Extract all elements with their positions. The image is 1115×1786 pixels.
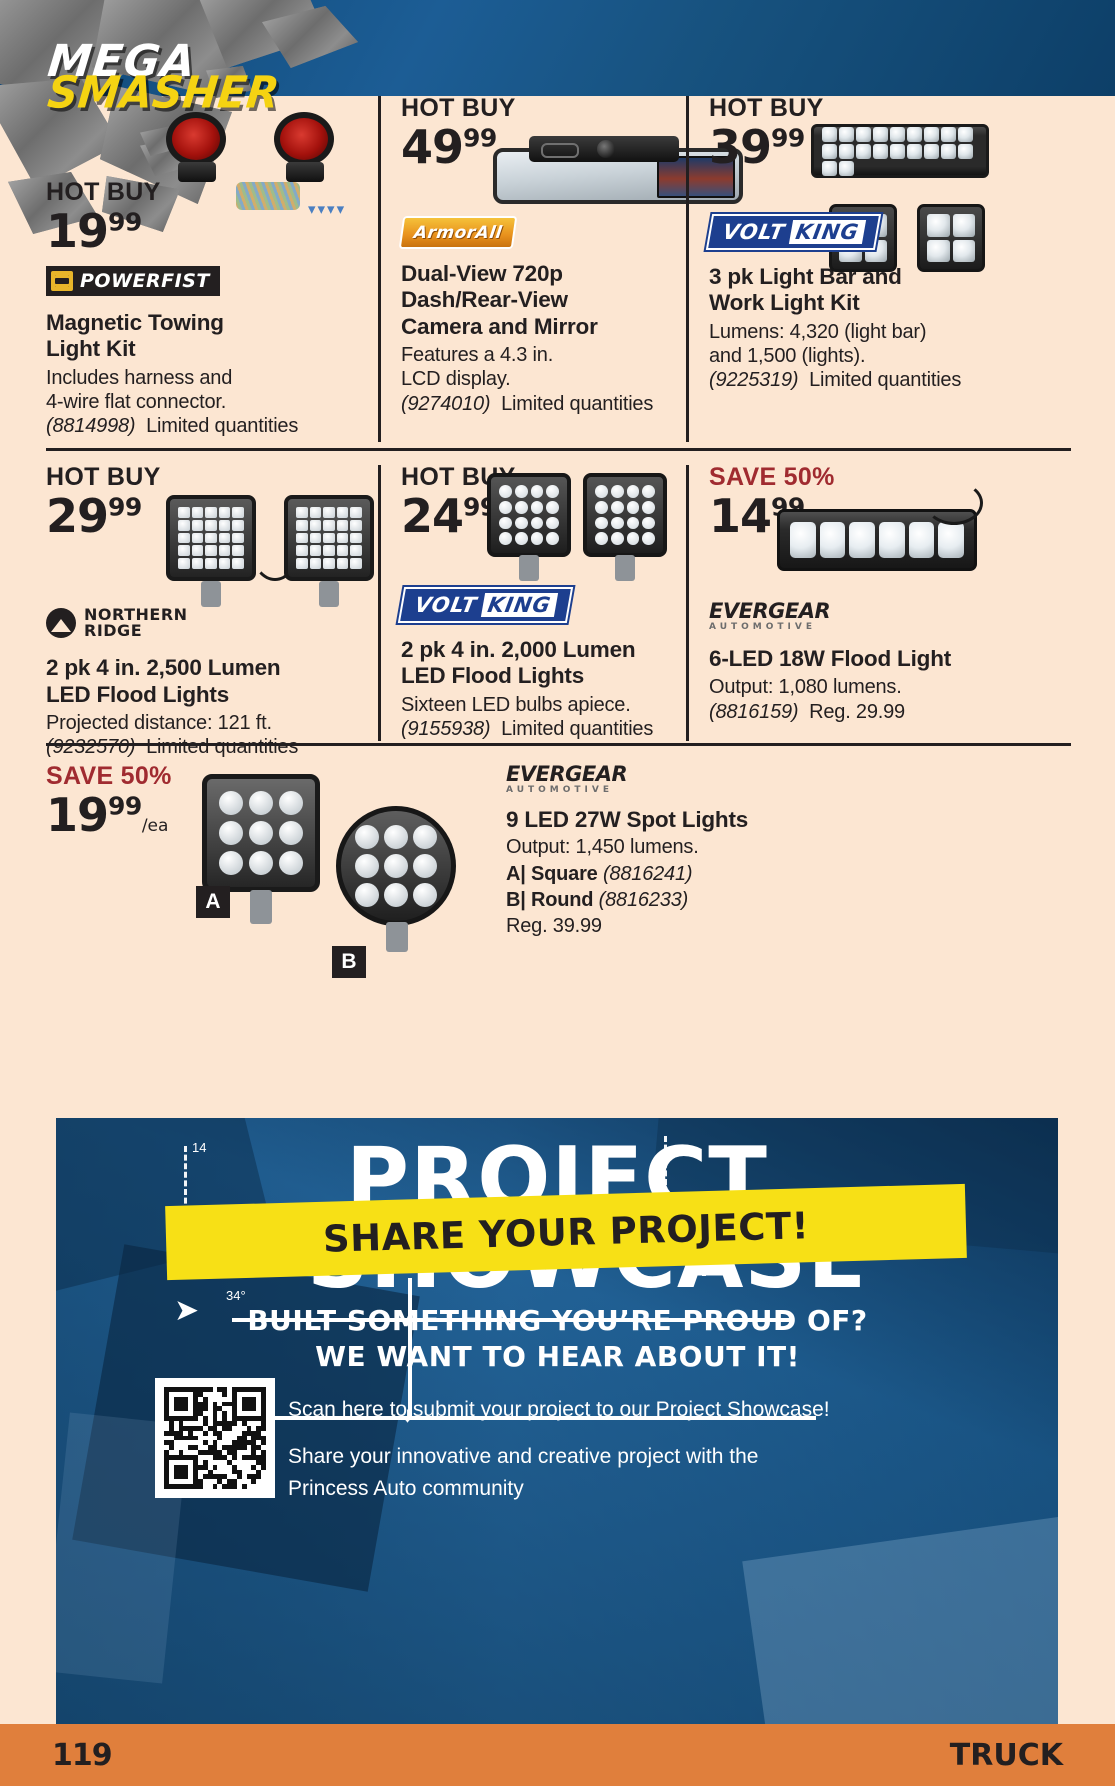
- mounting-bracket: [925, 481, 983, 525]
- variant-badge-b: B: [332, 946, 366, 978]
- brand-logo-voltking: VOLTKING: [706, 214, 881, 250]
- catalog-page: MEGA SMASHER ▾▾▾▾ HOT BUY 1999: [0, 0, 1115, 1786]
- product-availability: Limited quantities: [501, 718, 653, 740]
- brand-subtitle: AUTOMOTIVE: [709, 623, 830, 632]
- product-availability: Limited quantities: [809, 369, 961, 391]
- product-sku: (8814998): [46, 415, 135, 437]
- connector-clips-image: ▾▾▾▾: [308, 200, 360, 214]
- deal-flag: SAVE 50%: [46, 764, 172, 789]
- product-sku: (9155938): [401, 718, 490, 740]
- showcase-subhead-line1: BUILT SOMETHING YOU’RE PROUD OF?: [0, 1303, 1115, 1339]
- product-row-1: ▾▾▾▾ HOT BUY 1999 POWERFIST Magnetic Tow…: [46, 96, 1071, 442]
- brand-logo-evergear: EVERGEAR AUTOMOTIVE: [709, 601, 830, 632]
- showcase-scan-line1: Scan here to submit your project to our …: [288, 1394, 928, 1427]
- product-sku: (8816159): [709, 701, 798, 723]
- product-desc-line2: 4-wire flat connector.: [46, 390, 362, 414]
- product-card-6-led-18w-flood-light[interactable]: SAVE 50% 1499 EVERGEAR AUTOMOTIVE 6-LED …: [686, 465, 1026, 741]
- brand-subtitle: AUTOMOTIVE: [506, 786, 627, 795]
- product-title-line2: LED Flood Lights: [46, 682, 362, 708]
- price: 1999/ea: [46, 792, 168, 838]
- qr-code[interactable]: [155, 1378, 275, 1498]
- flood-light-mount-1: [201, 581, 221, 607]
- product-title-line2: Dash/Rear-View: [401, 287, 670, 313]
- price: 3999: [709, 124, 805, 170]
- brand-name-king: KING: [481, 593, 558, 617]
- spot-light-square-image: [202, 774, 320, 892]
- flood-light-mount-2: [615, 555, 635, 581]
- brand-name-king: KING: [789, 220, 866, 244]
- product-desc: Output: 1,450 lumens.: [506, 835, 1006, 859]
- product-desc-line1: Includes harness and: [46, 366, 362, 390]
- product-desc-line2: and 1,500 (lights).: [709, 344, 1010, 368]
- price-unit: /ea: [142, 816, 169, 836]
- product-desc-line1: Projected distance: 121 ft.: [46, 711, 362, 735]
- price-dollars: 24: [401, 489, 463, 543]
- deal-flag: HOT BUY: [401, 96, 670, 121]
- brand-name: EVERGEAR: [506, 762, 627, 786]
- price: 2999: [46, 493, 142, 539]
- brand-logo-armorall: ArmorAll: [399, 216, 518, 249]
- product-reg-price: Reg. 39.99: [506, 914, 1006, 938]
- variant-b-sku: (8816233): [599, 889, 688, 911]
- showcase-subhead-line2: WE WANT TO HEAR ABOUT IT!: [0, 1339, 1115, 1375]
- variant-a-key: A|: [506, 863, 526, 885]
- product-title-line2: Work Light Kit: [709, 290, 1010, 316]
- deal-flag: HOT BUY: [709, 96, 1010, 121]
- showcase-scan-copy: Scan here to submit your project to our …: [288, 1394, 928, 1506]
- product-title-line2: Light Kit: [46, 336, 362, 362]
- spot-light-round-image: [336, 806, 456, 926]
- product-grid: ▾▾▾▾ HOT BUY 1999 POWERFIST Magnetic Tow…: [46, 96, 1071, 984]
- page-footer: 119 TRUCK: [0, 1724, 1115, 1786]
- product-card-2pk-2000-lumen-flood[interactable]: HOT BUY 2499 VOLTKING 2 pk 4 in. 2,000 L…: [378, 465, 686, 741]
- mountain-icon: [46, 608, 76, 638]
- variant-badge-a: A: [196, 886, 230, 918]
- page-number: 119: [52, 1738, 112, 1773]
- product-title-line1: 2 pk 4 in. 2,000 Lumen: [401, 637, 670, 663]
- spot-light-round-mount: [386, 922, 408, 952]
- price-cents: 99: [463, 124, 497, 153]
- footer-section-label: TRUCK: [950, 1738, 1063, 1773]
- product-title-line3: Camera and Mirror: [401, 314, 670, 340]
- flood-light-image-1: [166, 495, 256, 581]
- product-row-2: HOT BUY 2999 NORTHERNRIDGE 2 pk 4 in. 2,…: [46, 451, 1071, 741]
- flood-light-image-2: [284, 495, 374, 581]
- work-light-image-2: [917, 204, 985, 272]
- product-card-magnetic-towing-light-kit[interactable]: ▾▾▾▾ HOT BUY 1999 POWERFIST Magnetic Tow…: [46, 96, 378, 442]
- showcase-shape-light: [742, 1517, 1058, 1738]
- rear-camera-image: [529, 136, 679, 162]
- product-sku: (9225319): [709, 369, 798, 391]
- price-dollars: 49: [401, 120, 463, 174]
- spot-light-square-mount: [250, 890, 272, 924]
- product-desc-line1: Features a 4.3 in.: [401, 343, 670, 367]
- deal-flag: HOT BUY: [46, 465, 362, 490]
- variant-a-sku: (8816241): [603, 863, 692, 885]
- product-sku: (9274010): [401, 393, 490, 415]
- showcase-subhead: BUILT SOMETHING YOU’RE PROUD OF? WE WANT…: [0, 1303, 1115, 1376]
- brand-logo-northern-ridge: NORTHERNRIDGE: [46, 607, 188, 640]
- product-desc-line2: LCD display.: [401, 367, 670, 391]
- product-desc-line1: Lumens: 4,320 (light bar): [709, 320, 1010, 344]
- light-bar-image: [811, 124, 989, 178]
- brand-name: NORTHERNRIDGE: [84, 607, 188, 640]
- price-cents: 99: [108, 208, 142, 237]
- product-title-line1: 2 pk 4 in. 2,500 Lumen: [46, 655, 362, 681]
- flood-light-16led-image-1: [487, 473, 571, 557]
- price-cents: 99: [108, 792, 142, 821]
- showcase-scan-line2b: Princess Auto community: [288, 1477, 524, 1500]
- product-title-line1: 6-LED 18W Flood Light: [709, 646, 1010, 672]
- brand-name: EVERGEAR: [709, 599, 830, 623]
- product-desc-line1: Output: 1,080 lumens.: [709, 675, 1010, 699]
- product-desc-line1: Sixteen LED bulbs apiece.: [401, 693, 670, 717]
- variant-b-name: Round: [531, 889, 593, 911]
- price-dollars: 14: [709, 489, 771, 543]
- product-availability: Limited quantities: [146, 415, 298, 437]
- product-row-feature: A B SAVE 50% 1999/ea EVERGEAR AUTOMOTIVE…: [46, 746, 1071, 984]
- logo-smasher-text: SMASHER: [45, 67, 281, 118]
- brand-name-volt: VOLT: [413, 593, 479, 617]
- variant-row-a: A| Square (8816241): [506, 862, 1006, 886]
- product-card-2pk-2500-lumen-flood[interactable]: HOT BUY 2999 NORTHERNRIDGE 2 pk 4 in. 2,…: [46, 465, 378, 741]
- product-title: 9 LED 27W Spot Lights: [506, 807, 1006, 833]
- product-card-9-led-27w-spot-lights[interactable]: A B SAVE 50% 1999/ea EVERGEAR AUTOMOTIVE…: [46, 764, 1071, 984]
- price-dollars: 19: [46, 204, 108, 258]
- price-dollars: 19: [46, 788, 108, 842]
- brand-logo-evergear: EVERGEAR AUTOMOTIVE: [506, 764, 627, 795]
- product-title-line1: Dual-View 720p: [401, 261, 670, 287]
- powerfist-fist-icon: [51, 271, 73, 291]
- brand-name-volt: VOLT: [721, 220, 787, 244]
- wiring-harness-image: [236, 182, 300, 210]
- price-dollars: 29: [46, 489, 108, 543]
- brand-name: POWERFIST: [80, 270, 210, 292]
- product-card-3pk-light-bar-work-light-kit[interactable]: HOT BUY 3999 VOLTKING 3 pk Light Bar and…: [686, 96, 1026, 442]
- brand-logo-voltking: VOLTKING: [398, 587, 573, 623]
- price: 2499: [401, 493, 497, 539]
- flood-light-mount-1: [519, 555, 539, 581]
- product-title-line2: LED Flood Lights: [401, 663, 670, 689]
- flood-light-mount-2: [319, 581, 339, 607]
- price-dollars: 39: [709, 120, 771, 174]
- product-availability: Limited quantities: [501, 393, 653, 415]
- brand-logo-powerfist: POWERFIST: [46, 266, 220, 296]
- flood-light-16led-image-2: [583, 473, 667, 557]
- towing-light-image: [166, 112, 228, 182]
- product-card-dual-view-camera-mirror[interactable]: HOT BUY 4999 ArmorAll Dual-View 720p Das…: [378, 96, 686, 442]
- showcase-scan-line2a: Share your innovative and creative proje…: [288, 1445, 758, 1468]
- price: 1999: [46, 208, 142, 254]
- price-cents: 99: [108, 493, 142, 522]
- variant-a-name: Square: [531, 863, 598, 885]
- price-cents: 99: [771, 124, 805, 153]
- product-title-line1: Magnetic Towing: [46, 310, 362, 336]
- towing-light-image-2: [274, 112, 336, 182]
- product-availability: Reg. 29.99: [809, 701, 905, 723]
- variant-b-key: B|: [506, 889, 526, 911]
- variant-row-b: B| Round (8816233): [506, 888, 1006, 912]
- brand-name: ArmorAll: [413, 223, 504, 243]
- price: 4999: [401, 124, 497, 170]
- qr-code-modules: [164, 1387, 266, 1489]
